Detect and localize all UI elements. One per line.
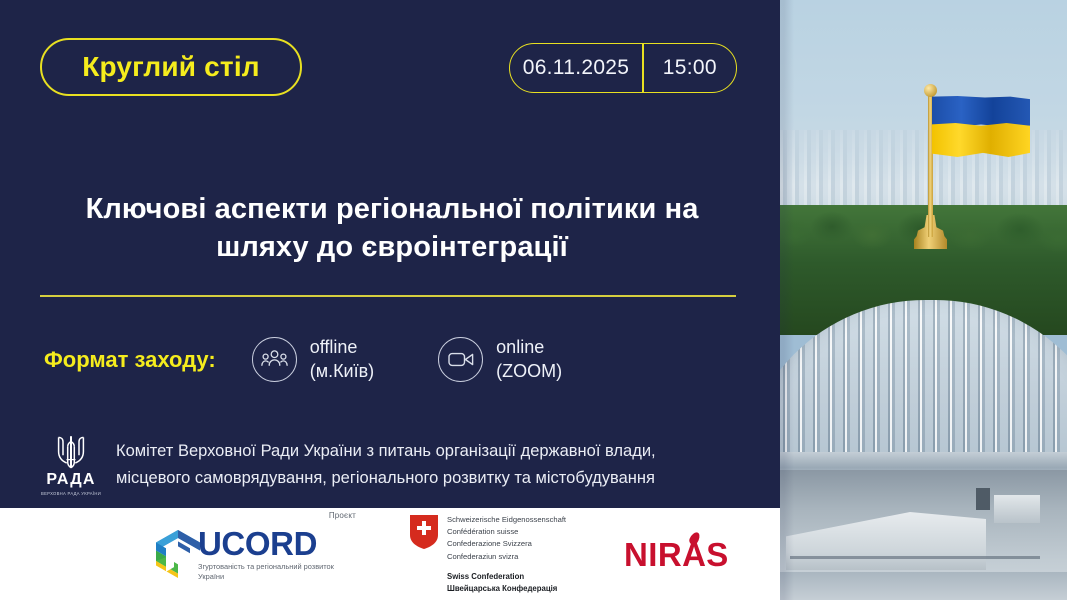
event-date: 06.11.2025 (510, 44, 642, 92)
format-option-online: online (ZOOM) (438, 336, 562, 384)
flag-blue-stripe (932, 96, 1030, 127)
event-type-badge: Круглий стіл (40, 38, 302, 96)
ucord-kicker: Проєкт (329, 511, 356, 520)
poster-root: Круглий стіл 06.11.2025 15:00 Ключові ас… (0, 0, 1067, 600)
format-online-text: online (ZOOM) (496, 336, 562, 384)
photo-roof-railing (790, 556, 1040, 559)
niras-logo: NIRAS (624, 538, 729, 571)
format-online-line1: online (496, 337, 544, 357)
format-offline-line1: offline (310, 337, 358, 357)
video-camera-icon (438, 337, 483, 382)
format-offline-line2: (м.Київ) (310, 360, 374, 384)
tryzub-icon (54, 434, 88, 470)
flag-yellow-stripe (932, 123, 1030, 157)
section-divider (40, 295, 736, 297)
event-time: 15:00 (644, 44, 736, 92)
date-time-badge: 06.11.2025 15:00 (509, 43, 737, 93)
rada-sublabel: ВЕРХОВНА РАДА УКРАЇНИ (41, 491, 101, 496)
committee-name: Комітет Верховної Ради України з питань … (116, 432, 731, 491)
photo-roof-vent (976, 488, 990, 510)
event-type-label: Круглий стіл (82, 51, 260, 83)
footer-logo-bar: Проєкт UCORD Згуртованість та регіональн… (0, 508, 780, 600)
organizer-block: РАДА ВЕРХОВНА РАДА УКРАЇНИ Комітет Верхо… (40, 432, 731, 496)
ucord-wordmark: UCORD (198, 527, 358, 560)
photo-ukrainian-flag (932, 96, 1030, 158)
hero-photo (780, 0, 1067, 600)
page-title: Ключові аспекти регіональної політики на… (56, 190, 728, 267)
swiss-line-it: Confederazione Svizzera (447, 538, 566, 550)
people-group-icon (252, 337, 297, 382)
photo-roof-lower (780, 572, 1067, 600)
niras-wordmark: NIRAS (624, 536, 729, 573)
ucord-tagline: Згуртованість та регіональний розвиток У… (198, 562, 358, 582)
format-offline-text: offline (м.Київ) (310, 336, 374, 384)
swiss-line-de: Schweizerische Eidgenossenschaft (447, 514, 566, 526)
ucord-logo: Проєкт UCORD Згуртованість та регіональн… (152, 527, 358, 582)
rada-wordmark: РАДА (46, 472, 95, 488)
swiss-shield-icon (410, 515, 438, 549)
verkhovna-rada-logo: РАДА ВЕРХОВНА РАДА УКРАЇНИ (40, 432, 102, 496)
format-label: Формат заходу: (44, 347, 216, 373)
swiss-line-uk: Швейцарська Конфедерація (447, 583, 566, 595)
swiss-line-en: Swiss Confederation (447, 571, 566, 583)
swiss-bold-lines: Swiss Confederation Швейцарська Конфедер… (447, 571, 566, 594)
format-option-offline: offline (м.Київ) (252, 336, 374, 384)
swiss-line-rm: Confederaziun svizra (447, 551, 566, 563)
swiss-language-lines: Schweizerische Eidgenossenschaft Confédé… (447, 514, 566, 563)
photo-roof-structure (994, 495, 1040, 523)
format-online-line2: (ZOOM) (496, 360, 562, 384)
swiss-confederation-logo: Schweizerische Eidgenossenschaft Confédé… (410, 514, 566, 595)
ucord-hexagon-icon (152, 528, 204, 580)
event-format-row: Формат заходу: offline (м.Київ) (44, 336, 626, 384)
swiss-line-fr: Confédération suisse (447, 526, 566, 538)
